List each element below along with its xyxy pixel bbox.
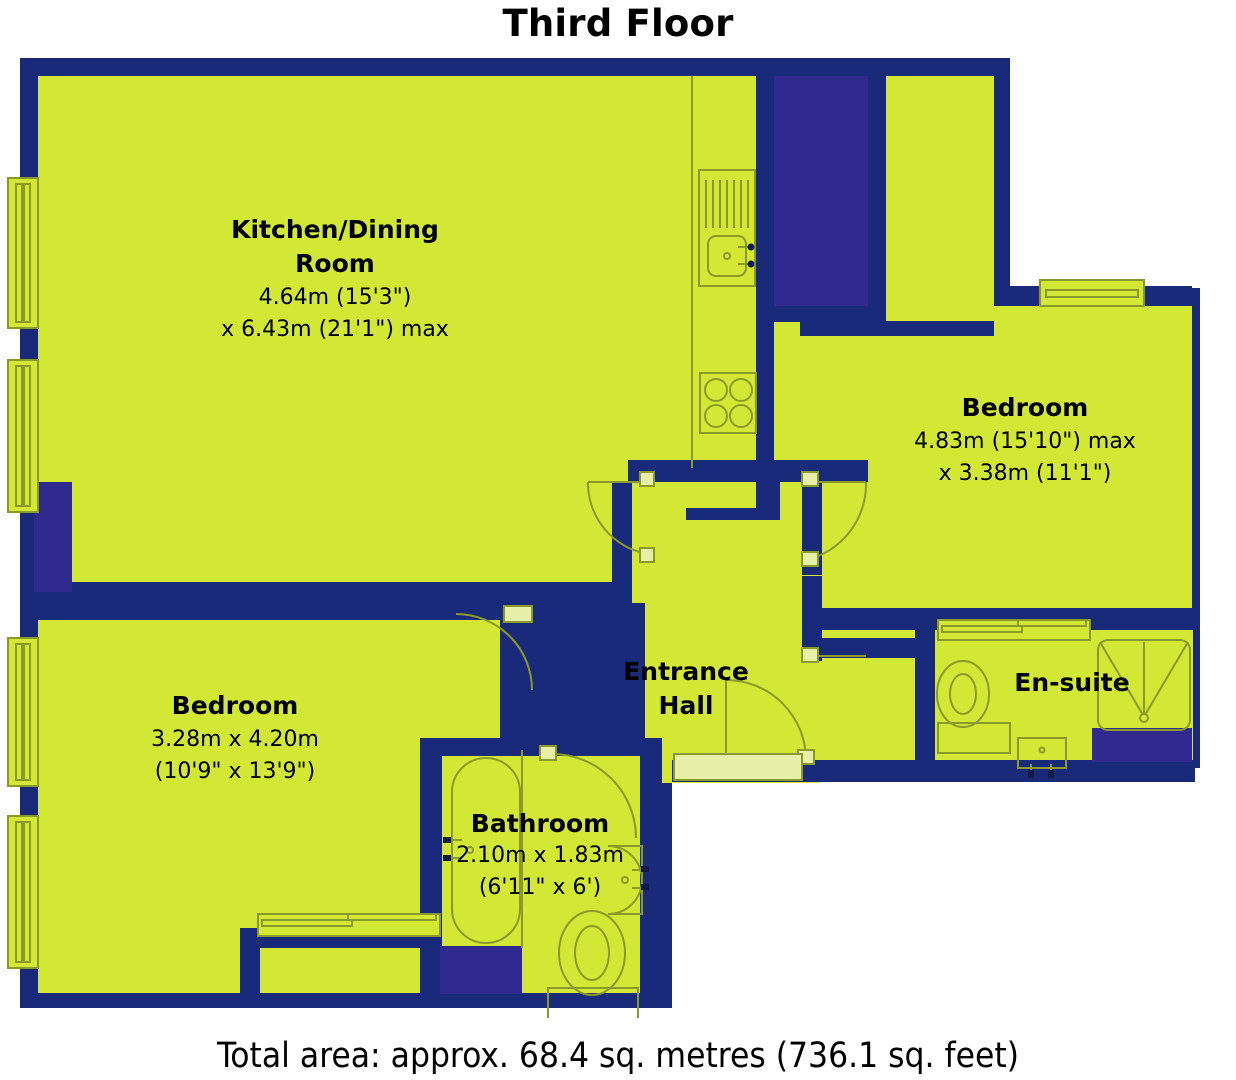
room-dimension-imperial: x 6.43m (21'1") max [221,317,449,342]
room-dimension-imperial: (6'11" x 6') [479,875,601,900]
room-name: En-suite [1014,668,1129,697]
window-bedroom2-upper-left [8,638,38,786]
room-dimension-metric: 2.10m x 1.83m [456,843,624,868]
wall-bedroom2-bay-left [240,928,260,996]
room-name: Bathroom [471,809,609,838]
window-ensuite-top [938,620,1090,640]
room-label-ensuite: En-suite [1014,668,1129,697]
floor-bedroom-main-top [994,304,1192,348]
room-dimension-metric: 3.28m x 4.20m [151,727,319,752]
wall-bathroom-left [420,746,442,996]
wall-bedroom2-right [500,604,522,749]
wall-hall-left [612,482,632,604]
room-name: Bedroom [172,691,299,720]
window-kitchen-upper-left [8,178,38,328]
floor-landing-top [884,76,994,321]
room-label-bedroom-second: Bedroom 3.28m x 4.20m (10'9" x 13'9") [151,691,319,784]
floor-bedroom-main [780,336,1192,648]
void-kitchen-left [34,482,72,592]
void-bathroom-bottom [440,946,522,994]
total-area-text: Total area: approx. 68.4 sq. metres (736… [0,1036,1236,1076]
room-name: Entrance [623,657,749,686]
room-dimension-imperial: x 3.38m (11'1") [939,461,1112,486]
wall-hall-top [628,460,868,482]
room-name: Bedroom [962,393,1089,422]
page-title: Third Floor [0,2,1236,45]
window-bedroom2-bottom [258,914,440,936]
room-name: Kitchen/Dining [231,215,439,244]
window-bedroom2-lower-left [8,816,38,968]
floorplan-page: Third Floor [0,0,1236,1080]
wall-void-bottom [772,306,884,322]
room-name-line2: Room [295,249,375,278]
room-dimension-metric: 4.83m (15'10") max [914,429,1136,454]
void-ensuite-right [1092,728,1192,762]
room-label-bathroom: Bathroom 2.10m x 1.83m (6'11" x 6') [456,809,624,900]
void-stairwell [772,76,884,321]
window-kitchen-lower-left [8,360,38,512]
wall-kitchen-bottom [20,582,632,604]
wall-ensuite-left [915,630,935,760]
room-dimension-imperial: (10'9" x 13'9") [155,759,316,784]
window-bedroom-main-top [1040,280,1144,306]
room-name-line2: Hall [659,691,714,720]
wall-kitchen-right [756,76,774,476]
floorplan-drawing: Kitchen/Dining Room 4.64m (15'3") x 6.43… [0,48,1236,1018]
wall-void-right [868,76,886,322]
room-dimension-metric: 4.64m (15'3") [259,285,412,310]
